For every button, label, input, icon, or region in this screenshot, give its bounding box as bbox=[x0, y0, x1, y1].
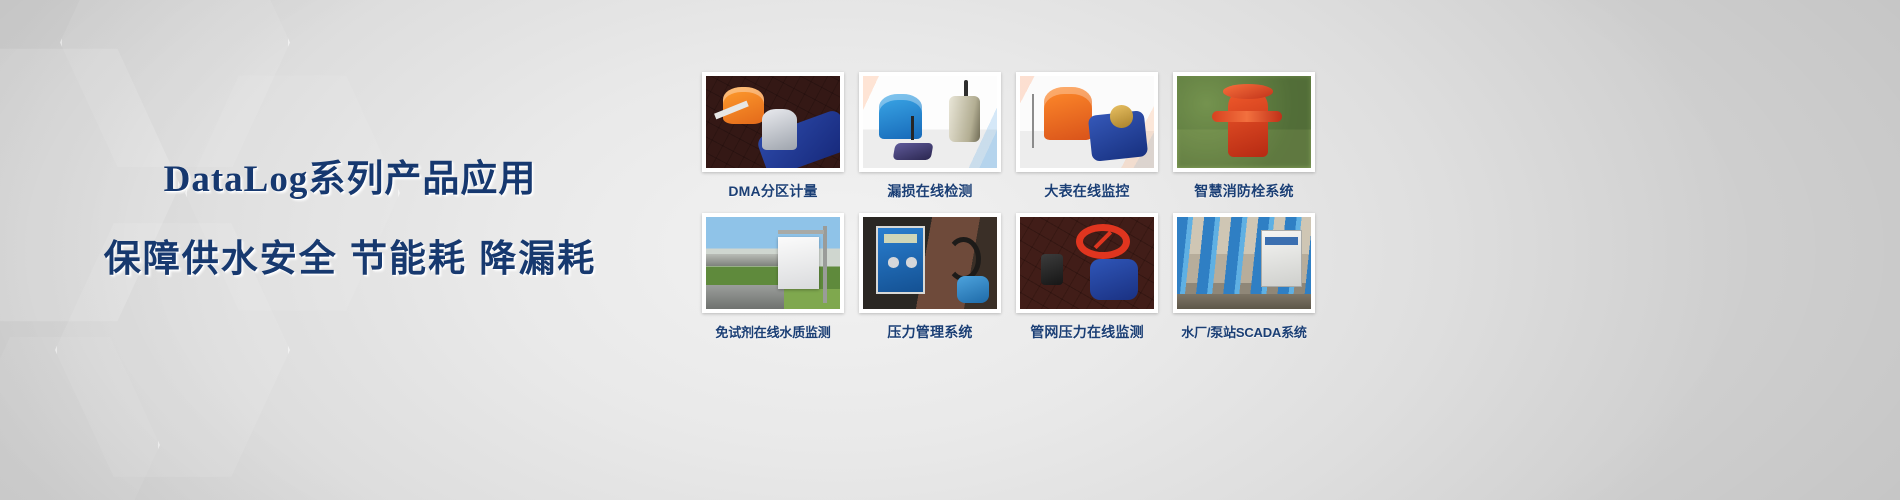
smart-hydrant-photo bbox=[1177, 76, 1311, 168]
leak-online-detection-photo bbox=[863, 76, 997, 168]
hexagon-shape bbox=[0, 330, 160, 500]
product-card[interactable]: 大表在线监控 bbox=[1016, 72, 1158, 201]
thumbnail-frame[interactable] bbox=[859, 72, 1001, 172]
product-card-caption: 管网压力在线监测 bbox=[1016, 322, 1158, 342]
scada-pump-station-photo bbox=[1177, 217, 1311, 309]
product-card[interactable]: 水厂/泵站SCADA系统 bbox=[1173, 213, 1315, 342]
product-card-caption: 免试剂在线水质监测 bbox=[702, 322, 844, 341]
thumbnail-frame[interactable] bbox=[1016, 213, 1158, 313]
thumbnail-frame[interactable] bbox=[1173, 72, 1315, 172]
product-card[interactable]: 智慧消防栓系统 bbox=[1173, 72, 1315, 201]
product-card-caption: 大表在线监控 bbox=[1016, 181, 1158, 201]
product-card[interactable]: 压力管理系统 bbox=[859, 213, 1001, 342]
thumbnail-frame[interactable] bbox=[702, 213, 844, 313]
promo-banner: DataLog系列产品应用 保障供水安全 节能耗 降漏耗 DMA分区计量 漏损在… bbox=[0, 0, 1900, 500]
dma-zone-metering-photo bbox=[706, 76, 840, 168]
network-pressure-photo bbox=[1020, 217, 1154, 309]
water-quality-station-photo bbox=[706, 217, 840, 309]
product-card-grid: DMA分区计量 漏损在线检测 大表在线监控 bbox=[702, 72, 1315, 342]
product-card-caption: 水厂/泵站SCADA系统 bbox=[1173, 322, 1315, 341]
headline-line-2: 保障供水安全 节能耗 降漏耗 bbox=[0, 228, 700, 282]
pressure-management-photo bbox=[863, 217, 997, 309]
product-card-caption: 智慧消防栓系统 bbox=[1173, 181, 1315, 201]
product-card-caption: 压力管理系统 bbox=[859, 322, 1001, 342]
thumbnail-frame[interactable] bbox=[1173, 213, 1315, 313]
product-card-caption: DMA分区计量 bbox=[702, 181, 844, 201]
product-card-caption: 漏损在线检测 bbox=[859, 181, 1001, 201]
product-card[interactable]: 漏损在线检测 bbox=[859, 72, 1001, 201]
large-meter-monitoring-photo bbox=[1020, 76, 1154, 168]
product-card[interactable]: 免试剂在线水质监测 bbox=[702, 213, 844, 342]
thumbnail-frame[interactable] bbox=[859, 213, 1001, 313]
product-card[interactable]: DMA分区计量 bbox=[702, 72, 844, 201]
product-card[interactable]: 管网压力在线监测 bbox=[1016, 213, 1158, 342]
headline-line-1: DataLog系列产品应用 bbox=[0, 148, 700, 202]
headline-block: DataLog系列产品应用 保障供水安全 节能耗 降漏耗 bbox=[0, 148, 700, 282]
thumbnail-frame[interactable] bbox=[1016, 72, 1158, 172]
thumbnail-frame[interactable] bbox=[702, 72, 844, 172]
